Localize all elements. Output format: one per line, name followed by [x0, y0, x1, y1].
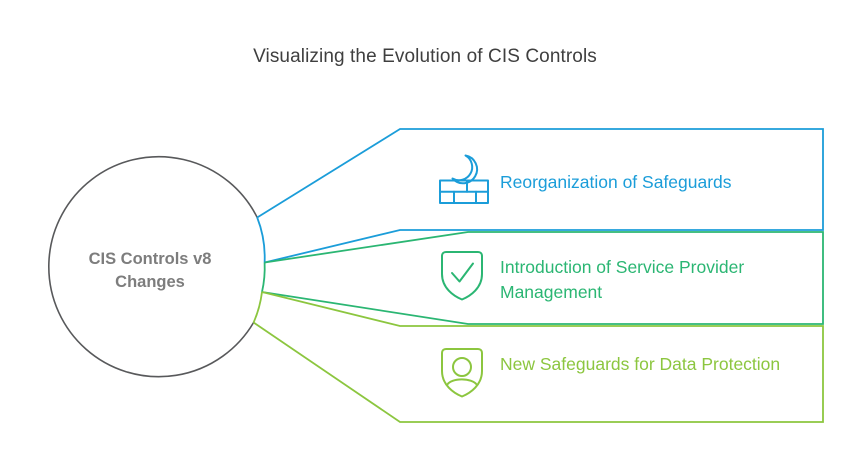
branch-label-1: Introduction of Service Provider Managem…: [500, 255, 800, 305]
hub-arc-olive: [254, 292, 262, 323]
hub-arc-blue: [257, 218, 265, 263]
hub-label-line-1: CIS Controls v8: [65, 248, 235, 271]
shield-person-icon: [442, 349, 482, 397]
branch-label-0: Reorganization of Safeguards: [500, 170, 800, 195]
diagram-graphics: [0, 0, 850, 474]
branch-label-2: New Safeguards for Data Protection: [500, 352, 800, 377]
branch-connector-0: [257, 129, 823, 263]
hub-label-line-2: Changes: [65, 271, 235, 294]
hub-arc-green: [262, 263, 265, 293]
branch-band-blue: [257, 129, 823, 263]
hub-label: CIS Controls v8 Changes: [65, 248, 235, 294]
shield-check-icon: [442, 252, 482, 300]
brick-wall-moon-icon: [440, 156, 488, 204]
diagram-canvas: Visualizing the Evolution of CIS Control…: [0, 0, 850, 474]
